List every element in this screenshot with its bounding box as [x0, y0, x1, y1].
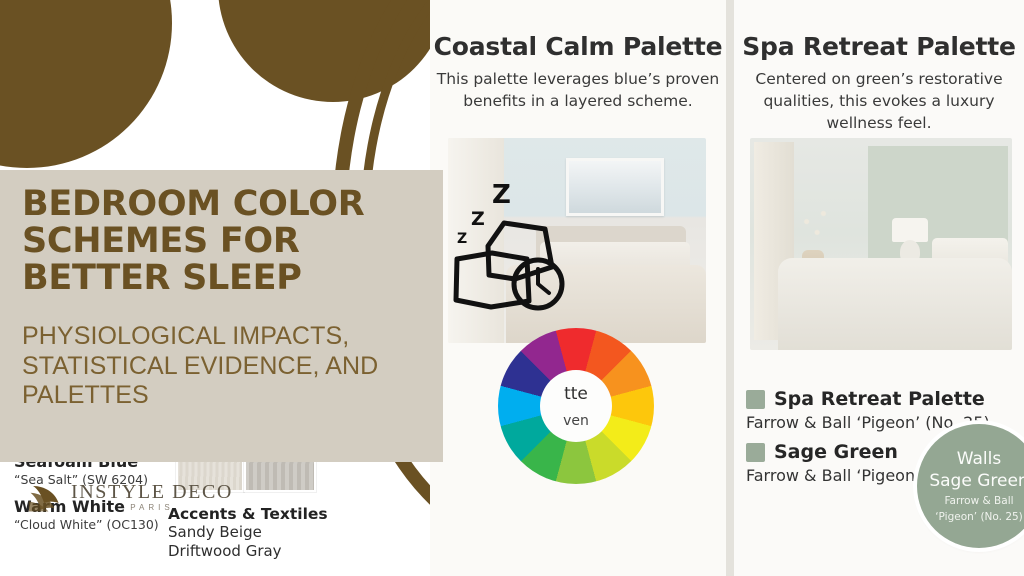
svg-text:Z: Z [457, 231, 467, 247]
card-spa-title: Spa Retreat Palette [734, 32, 1024, 61]
badge-color-name: Sage Green [929, 470, 1024, 492]
poster-canvas: Coastal Calm Palette This palette levera… [0, 0, 1024, 576]
svg-text:Z: Z [471, 208, 485, 230]
page-title: BEDROOM COLORSCHEMES FORBETTER SLEEP [22, 186, 442, 297]
logo-text: INSTYLE DECO PARIS [71, 482, 233, 512]
sleeping-pillows-clock-icon: Z Z Z [445, 183, 577, 315]
dried-branches [794, 200, 836, 254]
wall-art-seascape [566, 158, 664, 216]
color-wheel-hub: tte ven [540, 370, 612, 442]
accents-textiles-block: Accents & Textiles Sandy Beige Driftwood… [168, 505, 328, 561]
svg-text:Z: Z [492, 183, 511, 210]
hub-text-line1: tte [564, 384, 588, 404]
color-wheel: tte ven [498, 328, 654, 484]
accents-item: Sandy Beige [168, 523, 328, 542]
card-coastal-title: Coastal Calm Palette [430, 32, 726, 61]
legend-name: Sage Green [774, 441, 898, 463]
title-panel: BEDROOM COLORSCHEMES FORBETTER SLEEP PHY… [0, 170, 443, 462]
page-subtitle: PHYSIOLOGICAL IMPACTS,STATISTICAL EVIDEN… [22, 322, 492, 411]
card-coastal-subtitle: This palette leverages blue’s proven ben… [436, 68, 720, 112]
spa-retreat-swatch [746, 390, 765, 409]
legend-code: “Cloud White” (OC130) [14, 517, 159, 532]
logo-wordmark: INSTYLE DECO [71, 482, 233, 502]
badge-code-line1: Farrow & Ball [944, 495, 1013, 508]
card-divider [726, 0, 734, 576]
fan-shell-icon [28, 482, 62, 512]
logo-tagline: PARIS [71, 504, 233, 512]
lamp-shade [892, 218, 928, 242]
bed [778, 258, 1012, 350]
decorative-circle-left [0, 0, 172, 168]
spa-bedroom-photo [750, 138, 1012, 350]
legend-item: Spa Retreat Palette Farrow & Ball ‘Pigeo… [746, 388, 990, 433]
legend-name: Spa Retreat Palette [774, 388, 985, 410]
badge-kicker: Walls [957, 448, 1001, 470]
hub-text-line2: ven [563, 413, 589, 429]
badge-code-line2: ‘Pigeon’ (No. 25) [935, 511, 1023, 524]
accents-item: Driftwood Gray [168, 542, 328, 561]
card-spa-subtitle: Centered on green’s restorative qualitie… [740, 68, 1018, 134]
sage-green-swatch [746, 443, 765, 462]
brand-logo[interactable]: INSTYLE DECO PARIS [28, 482, 233, 512]
